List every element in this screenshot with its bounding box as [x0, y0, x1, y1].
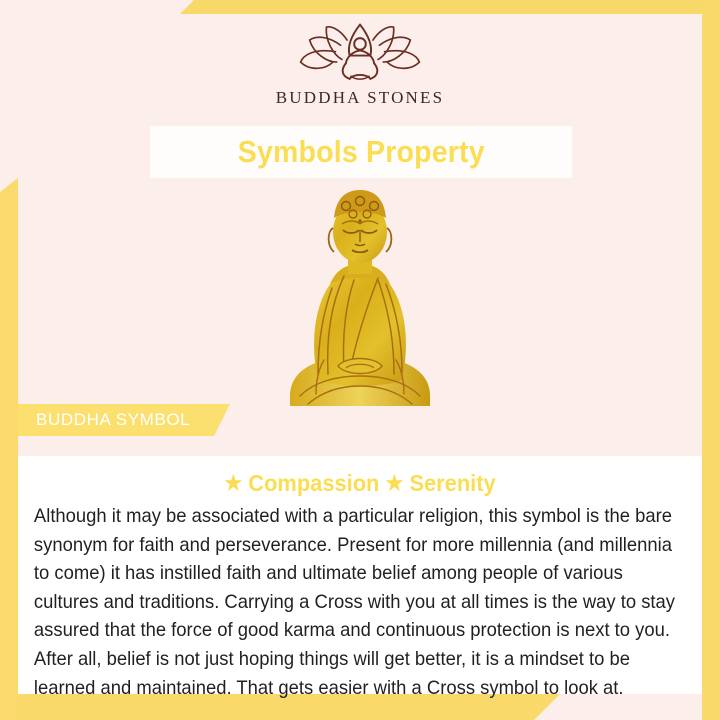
subtitle-word-serenity: Serenity — [409, 470, 495, 496]
subtitle-word-compassion: Compassion — [248, 470, 379, 496]
category-badge-label: BUDDHA SYMBOL — [18, 410, 190, 430]
lotus-meditation-icon — [295, 22, 425, 84]
section-body-text: Although it may be associated with a par… — [32, 503, 688, 703]
content-panel: ★ Compassion ★ Serenity Although it may … — [18, 456, 702, 694]
category-badge: BUDDHA SYMBOL — [18, 404, 230, 436]
poster-root: BUDDHA STONES Symbols Property — [0, 0, 720, 720]
section-subtitle: ★ Compassion ★ Serenity — [48, 470, 671, 497]
star-icon-2: ★ — [385, 472, 403, 495]
brand-header: BUDDHA STONES — [0, 0, 720, 130]
brand-name: BUDDHA STONES — [276, 88, 445, 108]
star-icon-1: ★ — [224, 472, 242, 495]
hero-image-wrap — [0, 182, 720, 412]
golden-seated-buddha-statue-icon — [260, 184, 460, 412]
title-banner: Symbols Property — [150, 126, 572, 178]
page-title: Symbols Property — [237, 134, 484, 170]
